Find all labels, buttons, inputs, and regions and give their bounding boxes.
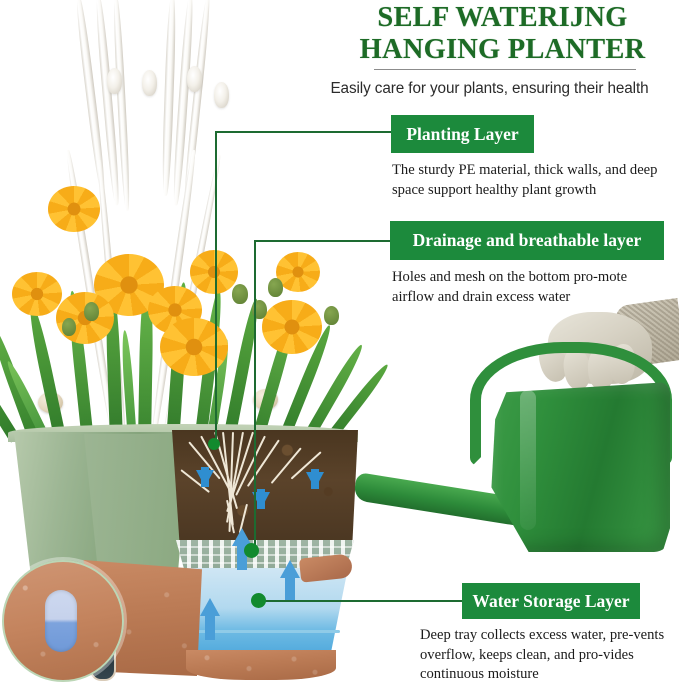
callout-text-drainage-breathable-layer: Holes and mesh on the bottom pro-mote ai…	[392, 268, 664, 307]
flower	[262, 300, 322, 354]
macrame-knot	[214, 82, 229, 108]
water-level-inset-magnifier	[2, 560, 124, 682]
page-title: SELF WATERIJNG HANGING PLANTER	[330, 2, 675, 66]
callout-tag-planting-layer[interactable]: Planting Layer	[391, 115, 534, 153]
leader-endpoint-dot	[251, 593, 266, 608]
moisture-up-arrow	[280, 560, 300, 578]
macrame-knot	[187, 66, 202, 92]
leader-endpoint-dot	[208, 438, 220, 450]
macrame-knot	[142, 70, 157, 96]
water-level-capsule-indicator	[45, 590, 77, 652]
callout-tag-drainage-breathable-layer[interactable]: Drainage and breathable layer	[390, 221, 664, 260]
water-down-arrow	[196, 470, 214, 487]
title-divider	[374, 69, 636, 70]
planter-base-rear	[186, 650, 336, 680]
moisture-up-arrow	[200, 598, 220, 616]
watering-can-illustration	[360, 290, 679, 580]
watering-can-highlight	[520, 390, 536, 530]
title-line-1: SELF WATERIJNG	[330, 2, 675, 34]
callout-text-planting-layer: The sturdy PE material, thick walls, and…	[392, 161, 668, 200]
flower	[190, 250, 238, 294]
title-line-2: HANGING PLANTER	[330, 34, 675, 66]
flower	[160, 318, 228, 376]
infographic-canvas: SELF WATERIJNG HANGING PLANTER Easily ca…	[0, 0, 679, 682]
watering-can-body	[484, 382, 670, 552]
macrame-knot	[107, 68, 122, 94]
flower	[48, 186, 100, 232]
leader-endpoint-dot	[244, 543, 259, 558]
callout-tag-water-storage-layer[interactable]: Water Storage Layer	[462, 583, 640, 619]
flower	[12, 272, 62, 316]
water-down-arrow	[306, 472, 324, 489]
callout-text-water-storage-layer: Deep tray collects excess water, pre-ven…	[420, 626, 675, 682]
